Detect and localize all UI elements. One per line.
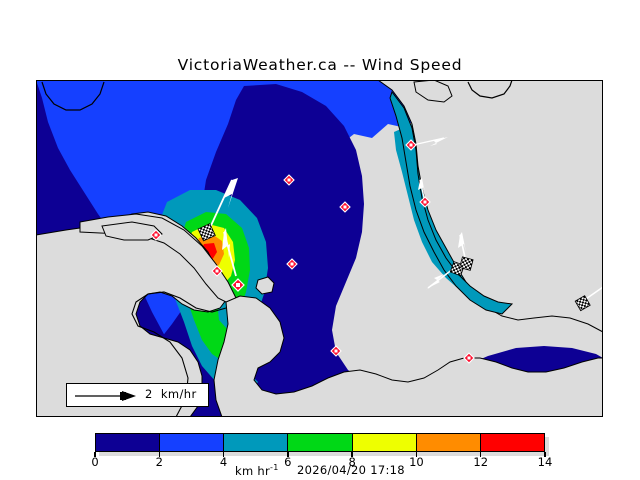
colorbar-band-8-10[interactable] bbox=[353, 434, 417, 451]
colorbar-band-0-2[interactable] bbox=[96, 434, 160, 451]
map-plot-area[interactable] bbox=[36, 80, 603, 417]
colorbar-band-4-6[interactable] bbox=[224, 434, 288, 451]
colorbar-band-6-8[interactable] bbox=[288, 434, 352, 451]
colorbar-band-2-4[interactable] bbox=[160, 434, 224, 451]
wind-speed-contour-map bbox=[36, 80, 603, 417]
colorbar-tick-label: 0 bbox=[91, 455, 98, 469]
colorbar-wrapper[interactable] bbox=[95, 433, 545, 452]
colorbar-tick-label: 12 bbox=[473, 455, 488, 469]
wind-scale-legend: 2 km/hr bbox=[66, 383, 209, 407]
colorbar-band-10-12[interactable] bbox=[417, 434, 481, 451]
wind-barb-icon bbox=[74, 388, 144, 407]
wind-scale-label: 2 km/hr bbox=[145, 387, 197, 401]
colorbar-band-12-14[interactable] bbox=[481, 434, 544, 451]
colorbar-tick-label: 4 bbox=[220, 455, 227, 469]
wind-speed-map-page: VictoriaWeather.ca -- Wind Speed bbox=[0, 0, 640, 480]
page-title: VictoriaWeather.ca -- Wind Speed bbox=[0, 56, 640, 74]
colorbar-units-exponent: -1 bbox=[270, 463, 279, 472]
wind-speed-colorbar[interactable] bbox=[95, 433, 545, 452]
colorbar-units-label: km hr-1 bbox=[235, 463, 279, 478]
colorbar-timestamp: 2026/04/20 17:18 bbox=[297, 463, 405, 477]
colorbar-tick-label: 2 bbox=[156, 455, 163, 469]
colorbar-tick-label: 14 bbox=[538, 455, 553, 469]
colorbar-tick-label: 10 bbox=[409, 455, 424, 469]
colorbar-tick-label: 6 bbox=[284, 455, 291, 469]
